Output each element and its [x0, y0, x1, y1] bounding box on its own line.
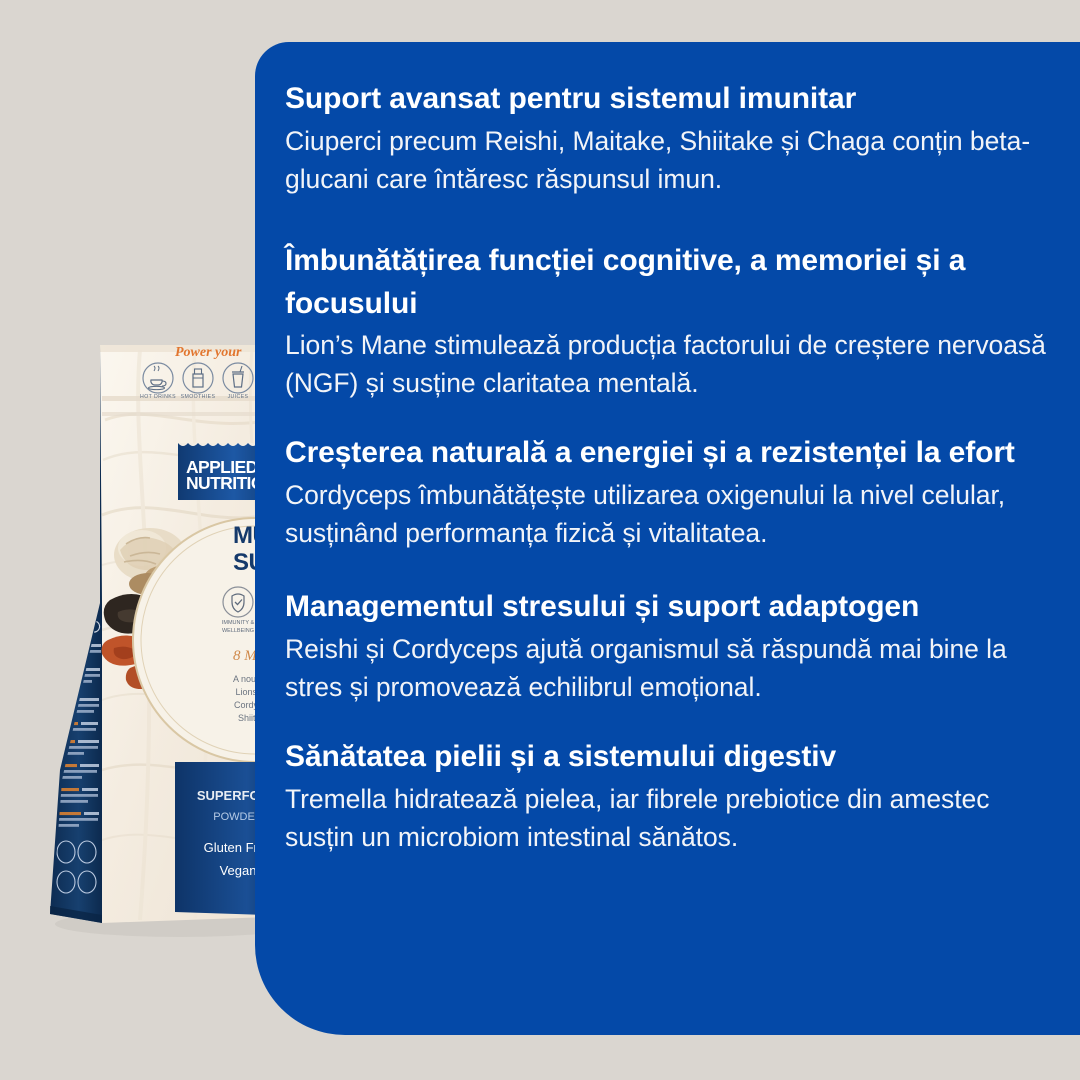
benefit-item: Sănătatea pielii și a sistemului digesti… [285, 736, 1046, 856]
svg-text:JUICES: JUICES [228, 394, 249, 400]
benefit-title: Îmbunătățirea funcției cognitive, a memo… [285, 240, 1046, 325]
benefit-description: Reishi și Cordyceps ajută organismul să … [285, 630, 1046, 706]
benefits-panel: Suport avansat pentru sistemul imunitar … [255, 42, 1080, 1035]
benefit-item: Managementul stresului și suport adaptog… [285, 586, 1046, 706]
footer-text-2: Vegan [220, 863, 257, 878]
benefit-item: Creșterea naturală a energiei și a rezis… [285, 432, 1046, 552]
benefit-title: Managementul stresului și suport adaptog… [285, 586, 1046, 629]
benefit-item: Îmbunătățirea funcției cognitive, a memo… [285, 240, 1046, 403]
benefit-title: Sănătatea pielii și a sistemului digesti… [285, 736, 1046, 779]
benefit-description: Cordyceps îmbunătățește utilizarea oxige… [285, 476, 1046, 552]
pouch-tagline: Power your [175, 345, 242, 360]
uk-flag-icon [58, 622, 71, 631]
benefit-description: Ciuperci precum Reishi, Maitake, Shiitak… [285, 122, 1046, 198]
benefit-title: Creșterea naturală a energiei și a rezis… [285, 432, 1046, 475]
benefit-description: Lion’s Mane stimulează producția factoru… [285, 326, 1046, 402]
benefit-title: Suport avansat pentru sistemul imunitar [285, 78, 1046, 121]
benefit-item: Suport avansat pentru sistemul imunitar … [285, 78, 1046, 198]
svg-text:SMOOTHIES: SMOOTHIES [181, 394, 216, 400]
badge-label-1b: WELLBEING [222, 628, 254, 634]
benefits-list: Suport avansat pentru sistemul imunitar … [285, 78, 1046, 1005]
badge-label-1a: IMMUNITY & [222, 620, 255, 626]
recycle-icon [75, 622, 85, 632]
benefit-description: Tremella hidratează pielea, iar fibrele … [285, 780, 1046, 856]
svg-text:HOT DRINKS: HOT DRINKS [140, 394, 176, 400]
poster-canvas: Power your HOT DRINKS [0, 0, 1080, 1080]
